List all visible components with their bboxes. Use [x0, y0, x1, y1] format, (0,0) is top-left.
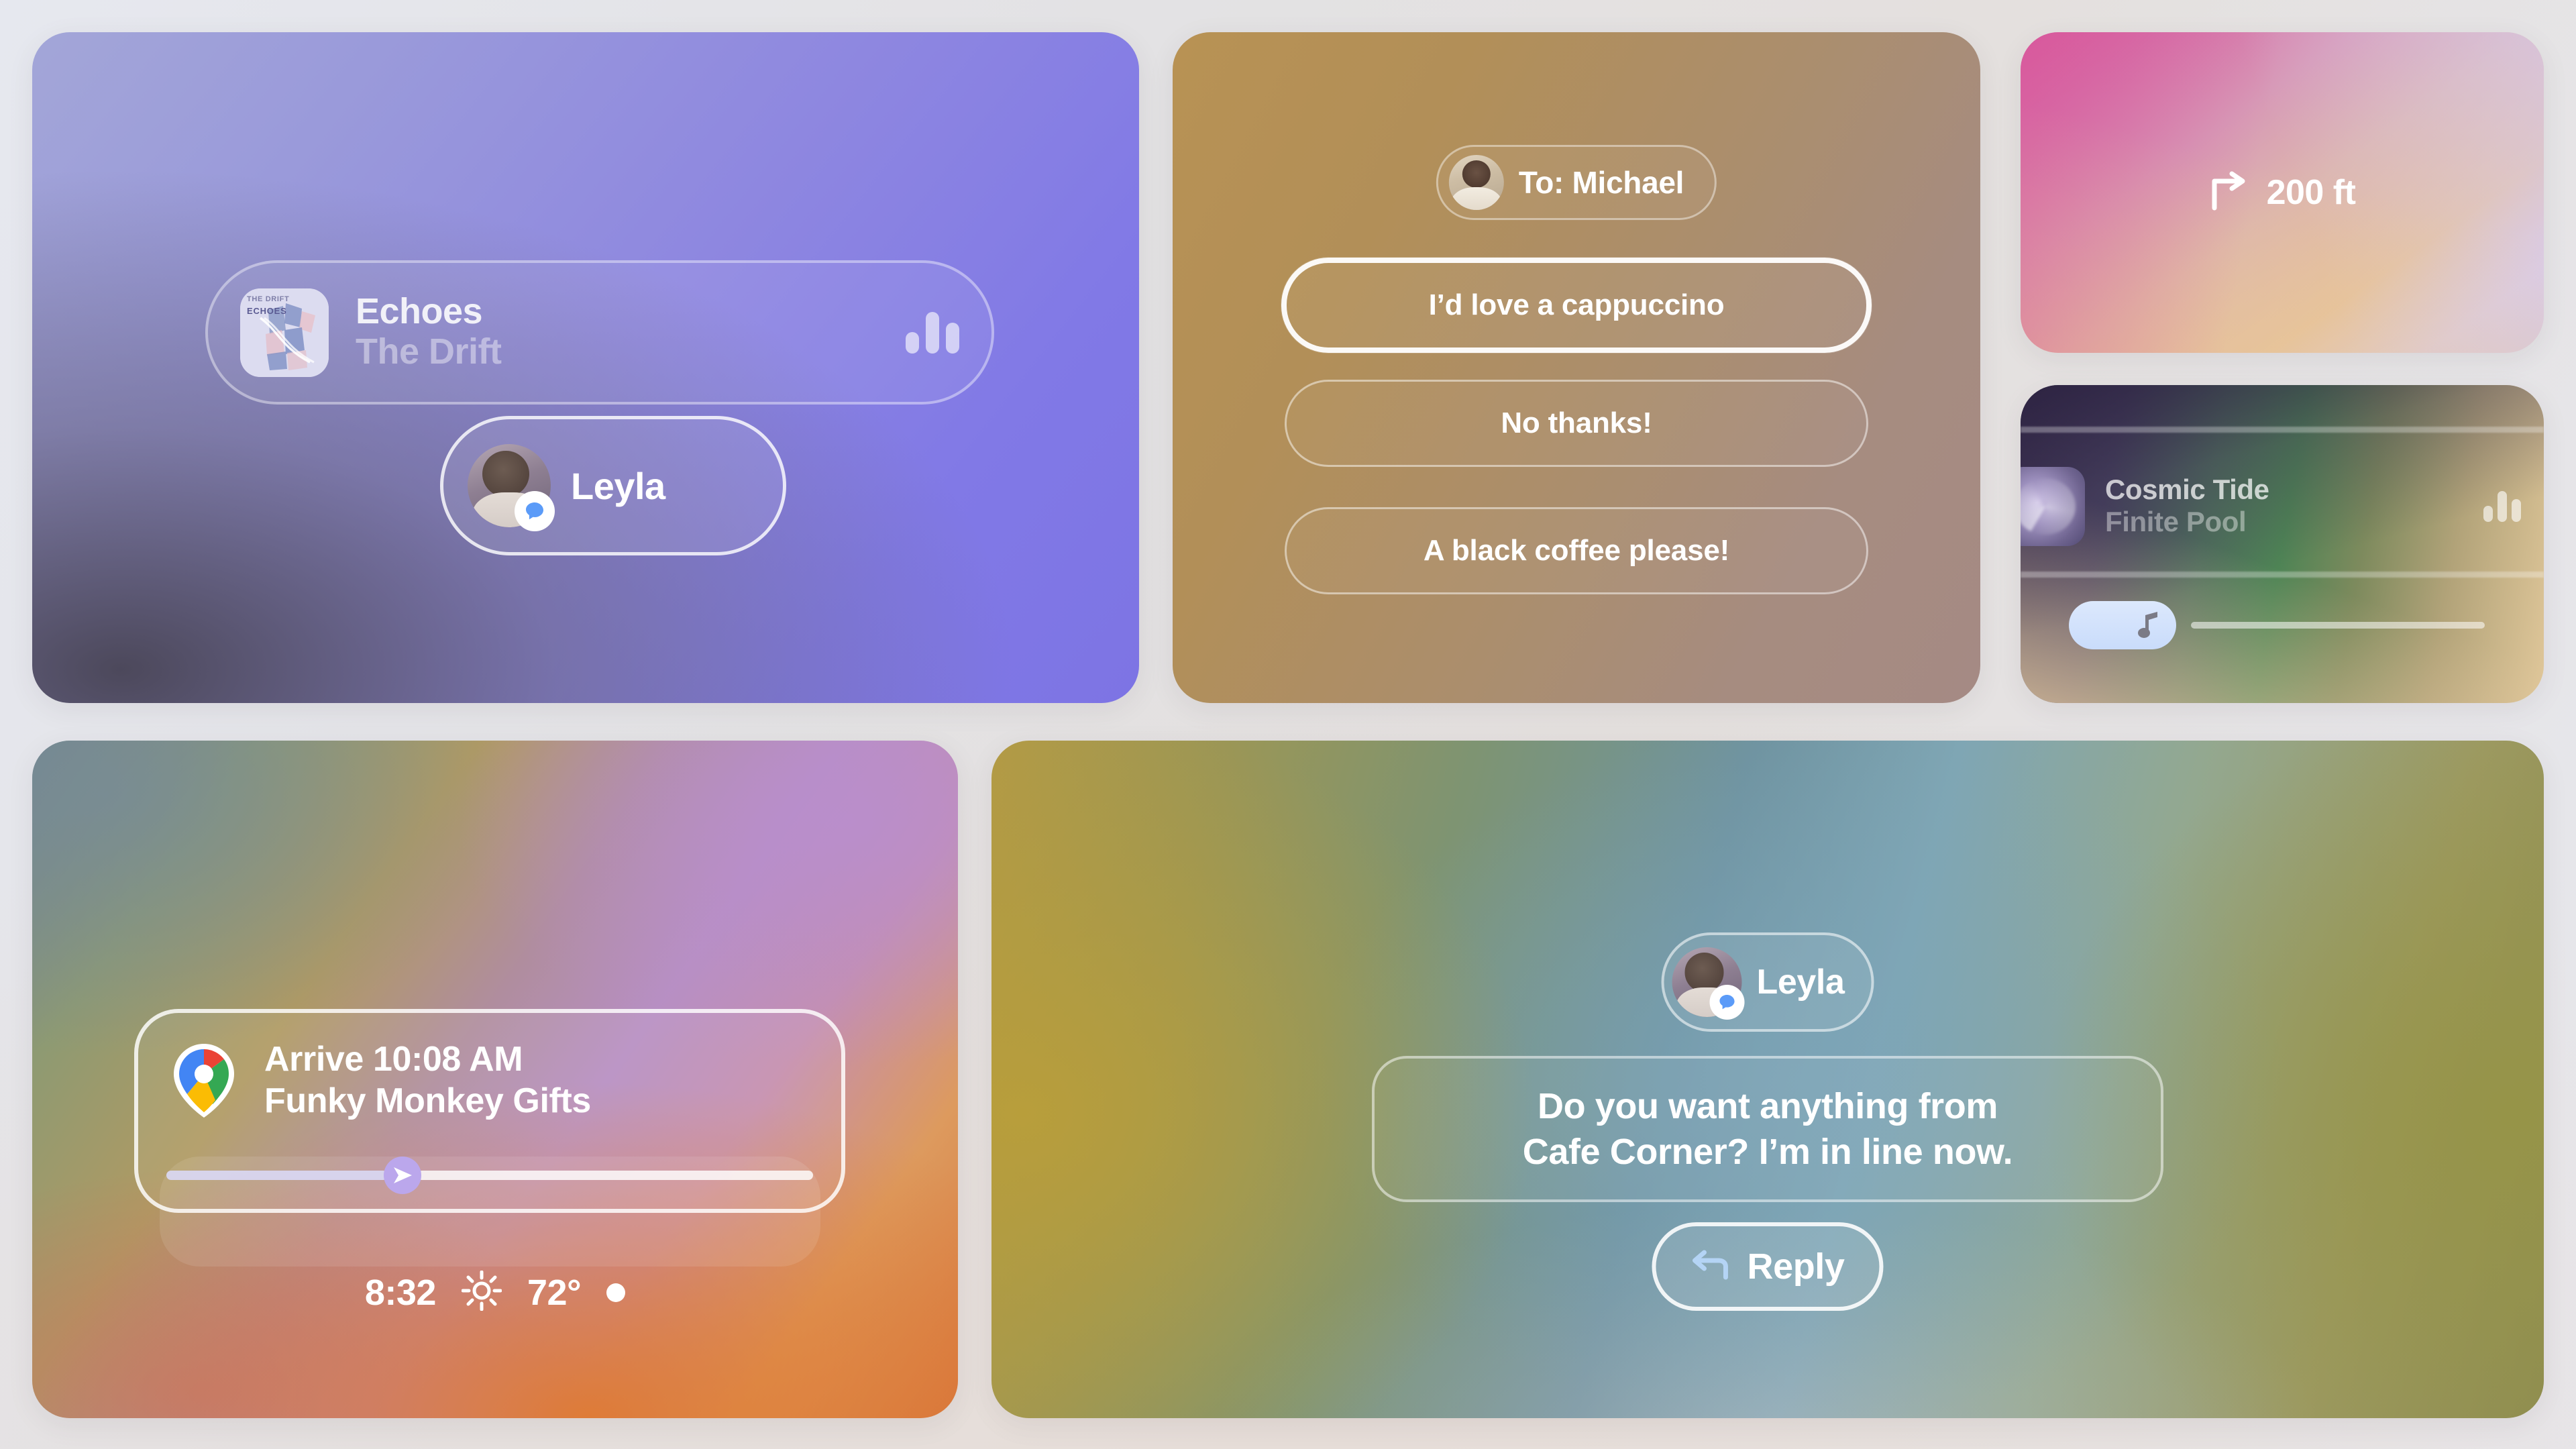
track-title: Echoes [356, 292, 906, 330]
widget-dashboard: THE DRIFT ECHOES Echoes The Drift Leyla [0, 0, 2576, 1449]
navigation-arrow-icon[interactable] [384, 1157, 421, 1194]
now-playing-track-pill[interactable]: THE DRIFT ECHOES Echoes The Drift [205, 260, 994, 405]
album-art-title-label: ECHOES [247, 306, 287, 316]
google-maps-pin-icon [166, 1041, 241, 1120]
clock-time: 8:32 [365, 1272, 436, 1313]
navigation-card[interactable]: 200 ft [2021, 32, 2544, 353]
message-line-1: Do you want anything from [1538, 1086, 1998, 1126]
reply-button-label: Reply [1747, 1246, 1844, 1287]
reply-button[interactable]: Reply [1652, 1222, 1883, 1311]
cosmic-player-card[interactable]: Cosmic Tide Finite Pool [2021, 385, 2544, 703]
divider [2021, 572, 2544, 578]
reply-arrow-icon [1690, 1249, 1729, 1285]
avatar [468, 444, 551, 527]
recipient-label: To: Michael [1519, 164, 1684, 201]
now-playing-text: Echoes The Drift [356, 292, 906, 372]
contact-name: Leyla [571, 464, 665, 508]
seek-slider[interactable] [2021, 601, 2544, 649]
progress-filled [166, 1171, 388, 1180]
reply-option-label: I’d love a cappuccino [1429, 288, 1725, 322]
equalizer-bars-icon [2483, 491, 2521, 522]
track-title: Cosmic Tide [2105, 474, 2483, 504]
reply-option-label: A black coffee please! [1424, 534, 1729, 568]
messages-app-icon [515, 491, 555, 531]
avatar [1672, 947, 1742, 1017]
trip-progress-bar[interactable] [166, 1159, 813, 1191]
destination-name: Funky Monkey Gifts [264, 1081, 591, 1121]
sender-name: Leyla [1757, 962, 1845, 1002]
album-art-echoes: THE DRIFT ECHOES [240, 288, 329, 377]
seek-track[interactable] [2191, 622, 2485, 629]
now-playing-card[interactable]: THE DRIFT ECHOES Echoes The Drift Leyla [32, 32, 1139, 703]
reply-option-1[interactable]: I’d love a cappuccino [1281, 258, 1872, 353]
message-line-2: Cafe Corner? I’m in line now. [1523, 1132, 2012, 1172]
turn-right-icon [2209, 170, 2249, 215]
music-note-icon [2136, 608, 2161, 643]
reply-option-label: No thanks! [1501, 407, 1652, 440]
album-art-cosmic-tide [2021, 467, 2085, 546]
suggested-replies-card[interactable]: To: Michael I’d love a cappuccino No tha… [1173, 32, 1980, 703]
reply-option-2[interactable]: No thanks! [1285, 380, 1868, 467]
album-art-band-label: THE DRIFT [247, 295, 289, 303]
equalizer-bars-icon [906, 312, 959, 354]
contact-chip-leyla[interactable]: Leyla [440, 416, 786, 555]
track-artist: The Drift [356, 331, 906, 372]
progress-remaining [417, 1171, 813, 1180]
temperature: 72° [527, 1272, 581, 1313]
avatar [1449, 155, 1504, 210]
eta-line: Arrive 10:08 AM [264, 1040, 591, 1079]
navigation-distance: 200 ft [2267, 172, 2356, 213]
message-card[interactable]: Leyla Do you want anything from Cafe Cor… [991, 741, 2544, 1418]
reply-option-3[interactable]: A black coffee please! [1285, 507, 1868, 594]
recipient-chip[interactable]: To: Michael [1436, 145, 1717, 220]
message-bubble: Do you want anything from Cafe Corner? I… [1372, 1056, 2163, 1202]
maps-eta-pill[interactable]: Arrive 10:08 AM Funky Monkey Gifts [134, 1009, 845, 1213]
seek-thumb[interactable] [2069, 601, 2176, 649]
status-row: 8:32 72° [32, 1271, 958, 1314]
sun-icon [462, 1271, 502, 1314]
messages-app-icon [1710, 985, 1745, 1020]
divider [2021, 427, 2544, 433]
sender-chip[interactable]: Leyla [1662, 932, 1874, 1032]
status-dot [606, 1283, 625, 1302]
maps-eta-card[interactable]: Arrive 10:08 AM Funky Monkey Gifts 8:32 [32, 741, 958, 1418]
track-artist: Finite Pool [2105, 506, 2483, 539]
